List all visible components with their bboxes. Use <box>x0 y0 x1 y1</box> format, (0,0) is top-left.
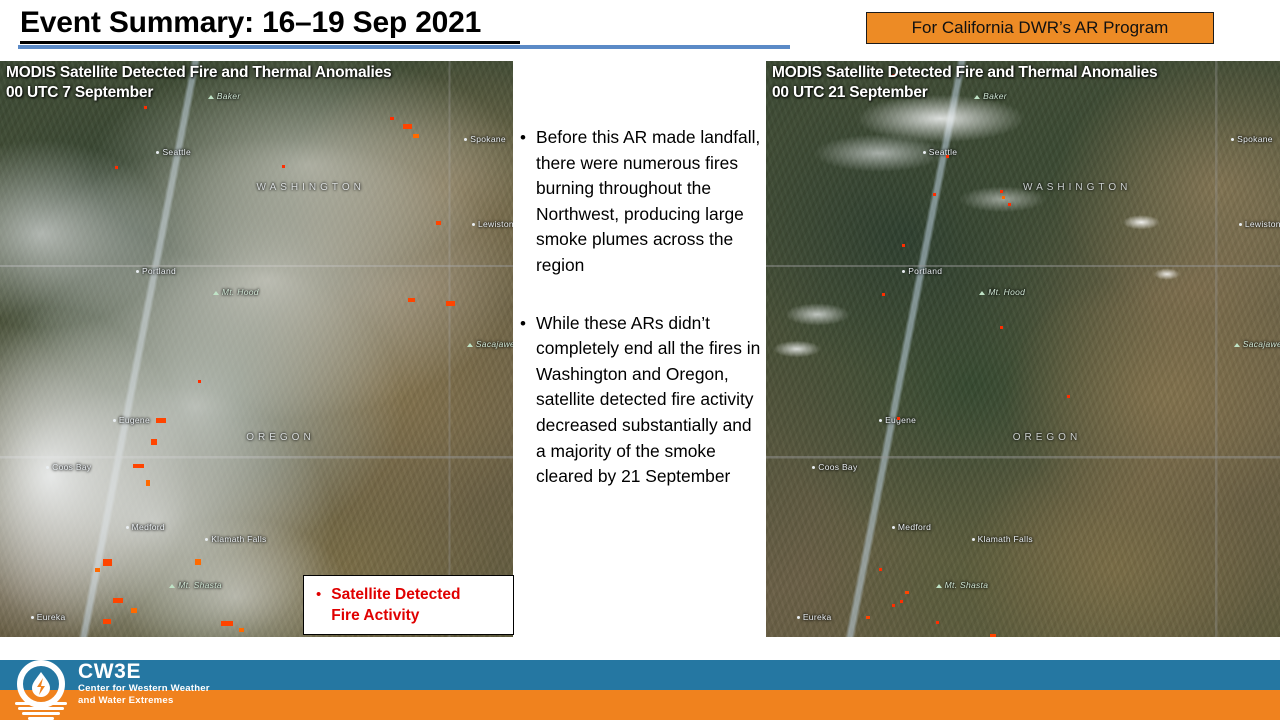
smoke-plume-layer-left <box>0 61 513 637</box>
cw3e-logo-text: CW3E Center for Western Weather and Wate… <box>78 661 210 707</box>
bullet-marker: • <box>520 125 526 151</box>
fire-detection-pixel <box>195 559 201 565</box>
fire-detection-pixel <box>879 568 882 571</box>
fire-detection-pixel <box>1002 196 1005 199</box>
fire-detection-pixel <box>156 418 166 423</box>
fire-activity-legend: • Satellite Detected Fire Activity <box>303 575 514 635</box>
legend-label: Satellite Detected Fire Activity <box>331 584 491 626</box>
map-caption-right-line1: MODIS Satellite Detected Fire and Therma… <box>772 63 1157 83</box>
page-title: Event Summary: 16–19 Sep 2021 <box>20 6 481 40</box>
legend-bullet-marker: • <box>316 576 321 603</box>
map-caption-left-line1: MODIS Satellite Detected Fire and Therma… <box>6 63 391 83</box>
fire-detection-pixel <box>446 301 455 306</box>
bullet-text: Before this AR made landfall, there were… <box>536 127 760 275</box>
fire-detection-pixel <box>144 106 147 109</box>
fire-detection-pixel <box>198 380 201 383</box>
title-underline-black <box>20 41 520 44</box>
fire-detection-pixel <box>1008 203 1011 206</box>
fire-detection-pixel <box>403 124 412 129</box>
summary-bullet: •While these ARs didn’t completely end a… <box>518 311 766 490</box>
fire-detection-pixel <box>408 298 415 302</box>
fire-detection-pixel <box>892 604 895 607</box>
fire-detection-pixel <box>151 439 157 445</box>
fire-detection-pixel <box>413 134 419 138</box>
map-caption-left: MODIS Satellite Detected Fire and Therma… <box>6 63 391 104</box>
fire-detection-pixel <box>1000 190 1003 193</box>
title-underline-blue <box>18 45 790 49</box>
map-panel-right[interactable]: BakerSeattleSpokaneWASHINGTONLewistonPor… <box>766 61 1280 637</box>
fire-detection-pixel <box>95 568 100 572</box>
fire-detection-pixel <box>905 591 909 594</box>
cw3e-logo-icon <box>10 658 72 720</box>
fire-detection-pixel <box>946 155 949 158</box>
fire-detection-pixel <box>133 464 144 468</box>
cloud-layer-right <box>766 61 1280 637</box>
fire-detection-pixel <box>902 244 905 247</box>
bullet-marker: • <box>520 311 526 337</box>
slide-root: Event Summary: 16–19 Sep 2021 For Califo… <box>0 0 1280 720</box>
fire-detection-pixel <box>131 608 137 613</box>
fire-detection-pixel <box>115 166 118 169</box>
fire-detection-pixel <box>103 619 111 624</box>
fire-detection-pixel <box>897 417 900 420</box>
fire-detection-pixel <box>900 600 903 603</box>
logo-subtitle-line2: and Water Extremes <box>78 695 210 707</box>
map-caption-left-line2: 00 UTC 7 September <box>6 83 391 103</box>
program-badge: For California DWR’s AR Program <box>866 12 1214 44</box>
fire-detection-pixel <box>882 293 885 296</box>
logo-subtitle-line1: Center for Western Weather <box>78 683 210 695</box>
fire-detection-pixel <box>436 221 441 225</box>
map-caption-right: MODIS Satellite Detected Fire and Therma… <box>772 63 1157 104</box>
fire-detection-pixel <box>221 621 233 626</box>
summary-bullet-list: •Before this AR made landfall, there wer… <box>518 125 766 490</box>
fire-detection-pixel <box>990 634 996 637</box>
fire-detection-pixel <box>866 616 870 619</box>
bullet-text: While these ARs didn’t completely end al… <box>536 313 760 487</box>
map-caption-right-line2: 00 UTC 21 September <box>772 83 1157 103</box>
map-panel-left[interactable]: BakerSeattleSpokaneWASHINGTONLewistonPor… <box>0 61 513 637</box>
summary-bullet: •Before this AR made landfall, there wer… <box>518 125 766 279</box>
fire-detection-pixel <box>282 165 285 168</box>
fire-detection-pixel <box>1000 326 1003 329</box>
fire-detection-pixel <box>1067 395 1070 398</box>
fire-detection-pixel <box>936 621 939 624</box>
fire-detection-pixel <box>390 117 394 120</box>
fire-detection-pixel <box>933 193 936 196</box>
fire-detection-pixel <box>113 598 123 603</box>
fire-detection-pixel <box>239 628 244 632</box>
fire-detection-pixel <box>146 480 150 486</box>
logo-title: CW3E <box>78 661 210 683</box>
fire-detection-pixel <box>103 559 112 566</box>
